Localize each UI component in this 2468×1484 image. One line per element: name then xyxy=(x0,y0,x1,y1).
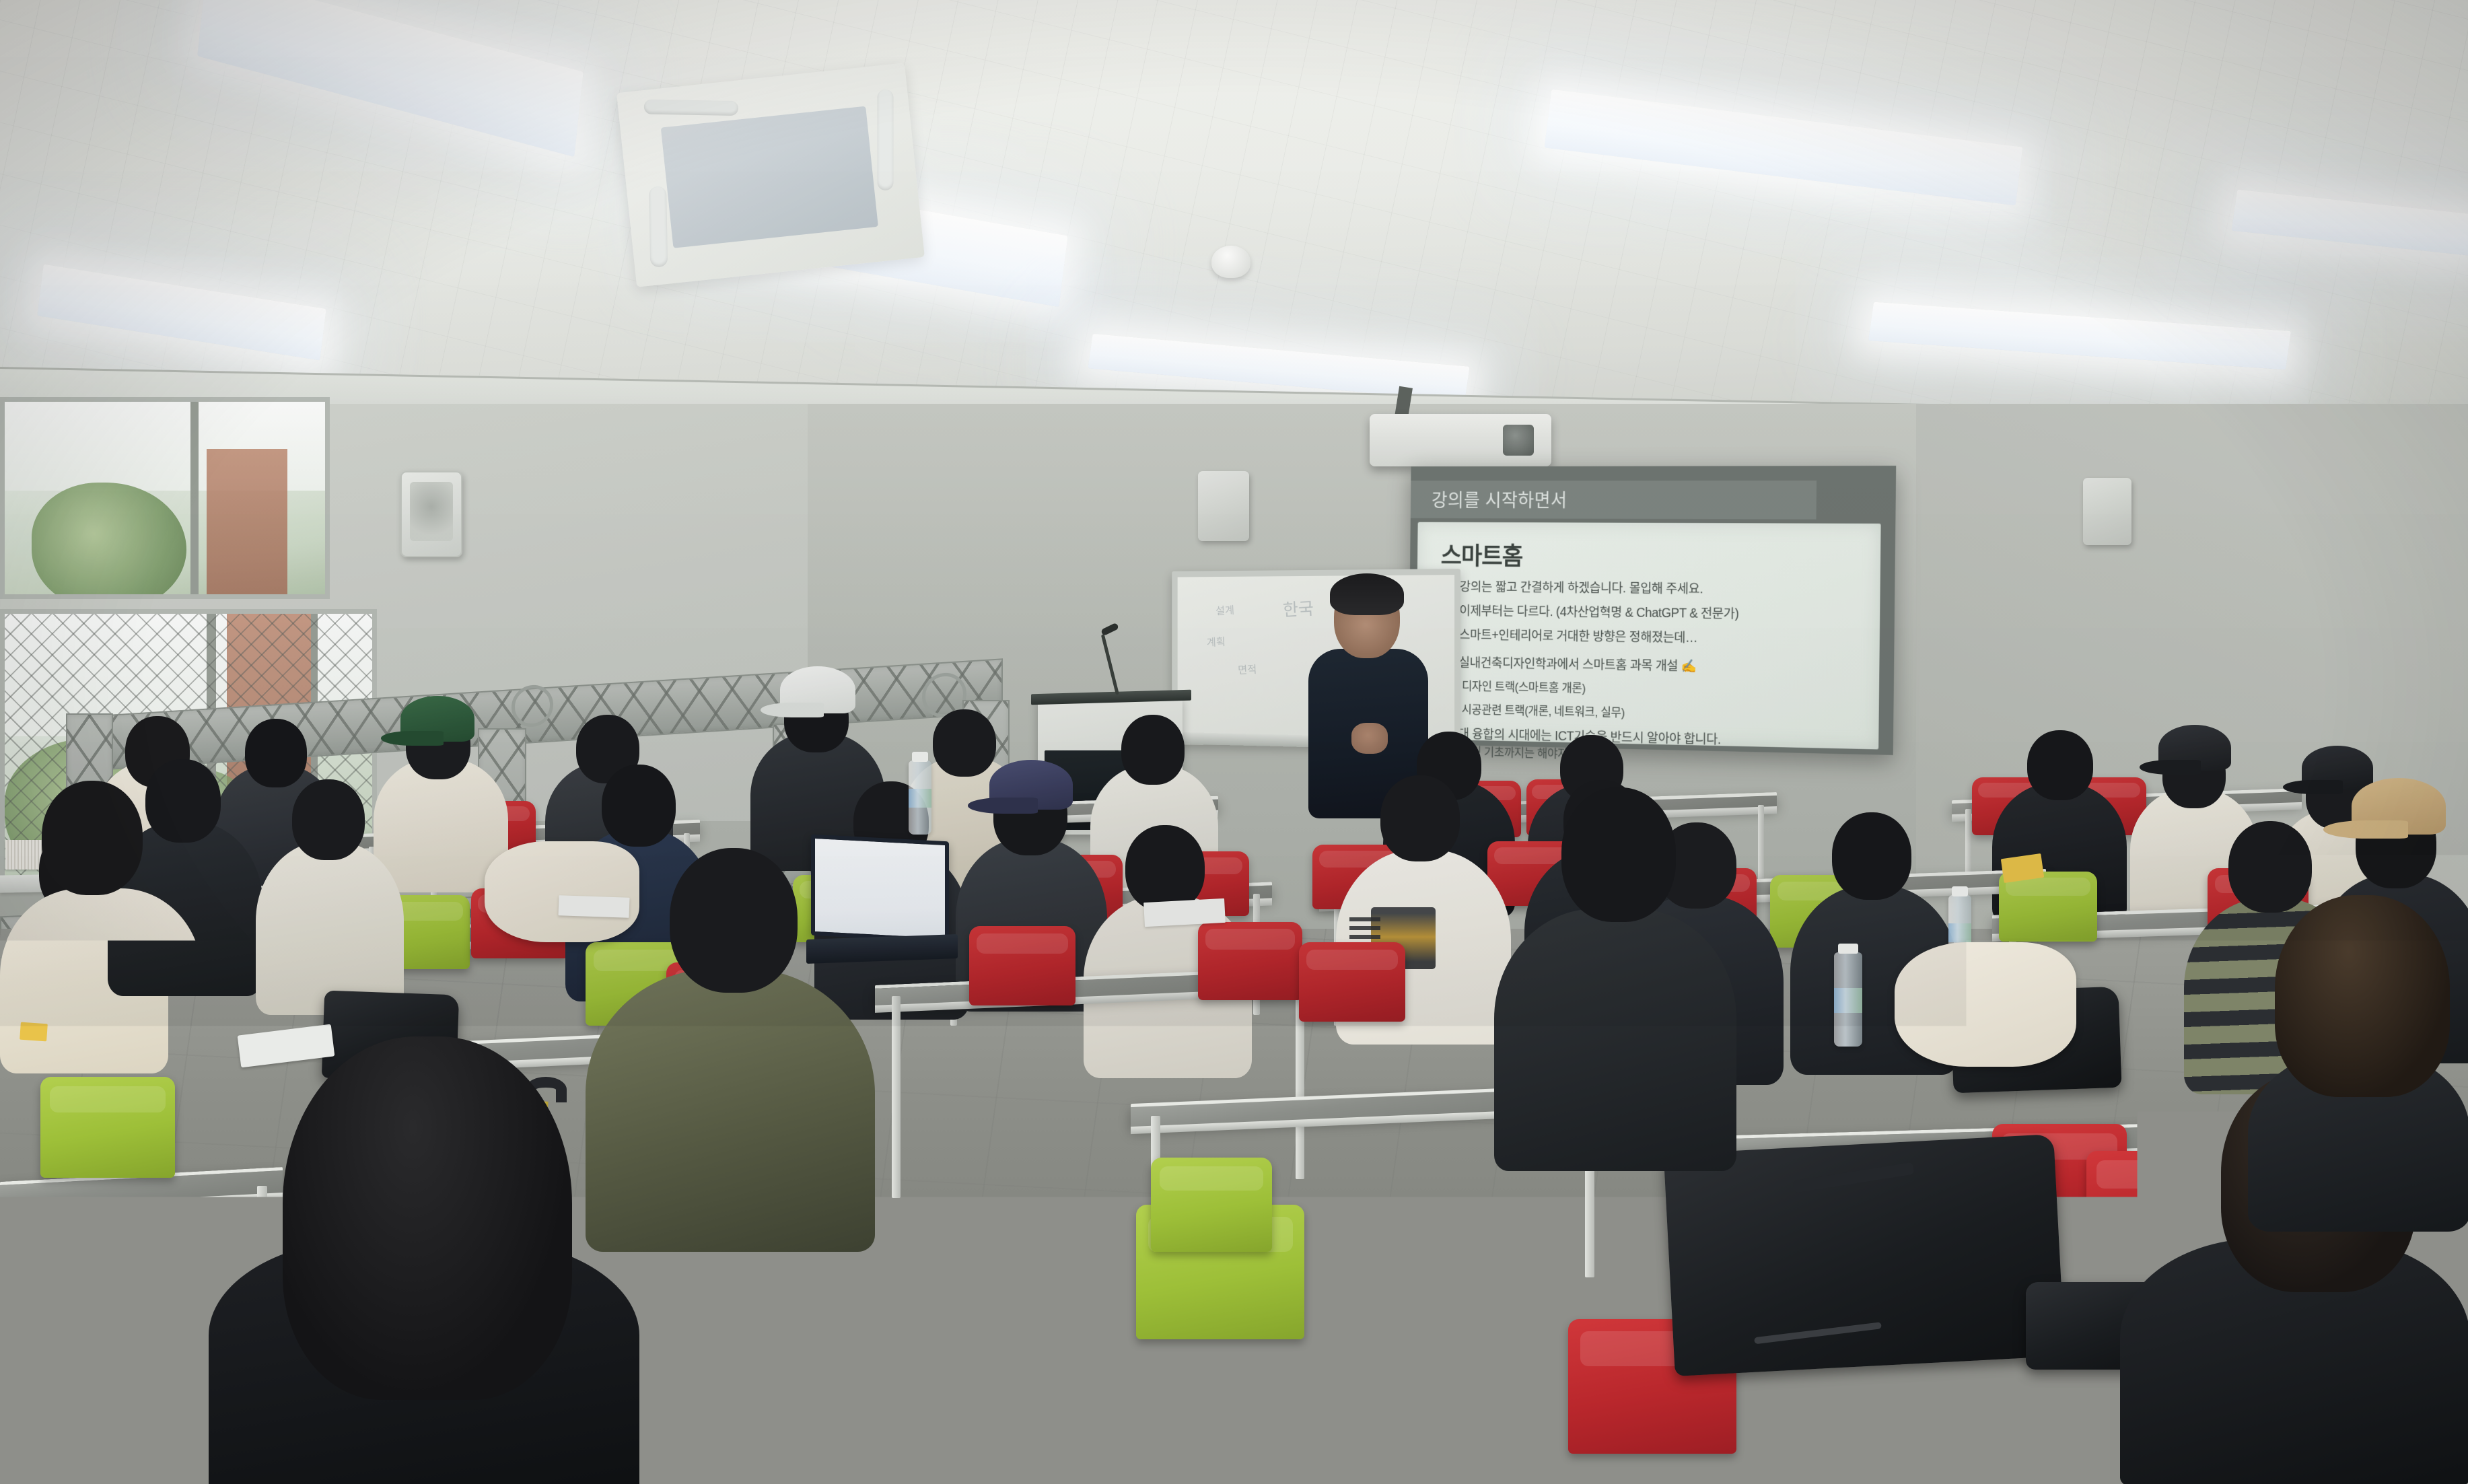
bottle-cap xyxy=(912,752,928,762)
chair-red xyxy=(1299,942,1405,1022)
wall-speaker-icon xyxy=(400,471,462,557)
student-head xyxy=(2275,895,2450,1097)
handout[interactable] xyxy=(1143,898,1226,927)
whiteboard-scribble: 계획 xyxy=(1206,633,1226,649)
dome-sensor-icon xyxy=(1211,246,1250,278)
table-leg xyxy=(892,996,901,1198)
ceiling-projector xyxy=(1370,414,1551,466)
student-front-left-edge xyxy=(0,754,202,1104)
slide-item: 2. 이제부터는 다르다. (4차산업혁명 & ChatGPT & 전문가) xyxy=(1440,604,1867,623)
cap-navy xyxy=(989,760,1073,810)
student-head xyxy=(1832,812,1911,900)
bottle-label xyxy=(1948,923,1971,943)
student-mid-3 xyxy=(256,740,404,1010)
cap-tan xyxy=(2352,778,2446,835)
ac-vane xyxy=(649,186,668,267)
bottle-cap xyxy=(1952,886,1968,896)
slide-item: 4. 실내건축디자인학과에서 스마트홈 과목 개설 ✍ xyxy=(1440,656,1866,677)
water-bottle[interactable] xyxy=(909,761,931,835)
cap-black xyxy=(2158,725,2231,771)
slide-header-text: 강의를 시작하면서 xyxy=(1432,487,1567,513)
jacket-on-chair[interactable] xyxy=(1895,942,2076,1067)
student-torso xyxy=(586,969,875,1252)
slide-item: 3. 스마트+인테리어로 거대한 방향은 정해졌는데… xyxy=(1440,629,1867,648)
student-head xyxy=(1380,775,1460,861)
student-head xyxy=(1125,825,1205,911)
student-front-dark-jacket xyxy=(1494,781,1736,1171)
slide-item-text: 스마트+인테리어로 거대한 방향은 정해졌는데… xyxy=(1459,629,1697,645)
slide-title: 스마트홈 xyxy=(1441,536,1868,575)
student-head xyxy=(42,781,143,895)
backpack-zipper xyxy=(1754,1322,1882,1344)
student-front-olive-fleece xyxy=(586,835,875,1252)
whiteboard-scribble: 면적 xyxy=(1238,660,1257,677)
bottle-cap xyxy=(1838,944,1858,954)
student-head xyxy=(1121,715,1185,785)
slide-item-text: 이제부터는 다르다. (4차산업혁명 & ChatGPT & 전문가) xyxy=(1459,604,1738,621)
student-front-long-hair xyxy=(195,1036,653,1484)
slide-item-text: 강의는 짧고 간결하게 하겠습니다. 몰입해 주세요. xyxy=(1460,581,1703,597)
slide-sub-item: - 디자인 트랙(스마트홈 개론) xyxy=(1456,677,1866,701)
table-leg xyxy=(17,1198,28,1400)
chair-red xyxy=(969,926,1076,1005)
ceiling-ac-cassette xyxy=(616,63,925,287)
ceiling xyxy=(0,0,2468,431)
cap-white xyxy=(780,666,855,713)
student-front-right-hair xyxy=(2248,895,2468,1232)
student-head xyxy=(2027,730,2093,800)
student-head xyxy=(670,848,798,993)
student-torso xyxy=(256,841,404,1015)
student-head xyxy=(292,779,365,860)
chair-green xyxy=(1151,1158,1272,1252)
mint-tumbler[interactable] xyxy=(1380,1339,1447,1484)
cap-brim xyxy=(968,798,1038,814)
bottle-label xyxy=(909,789,931,808)
cap-green xyxy=(400,696,474,742)
slide-header: 강의를 시작하면서 xyxy=(1411,481,1817,520)
slide-bullet-list: 1. 강의는 짧고 간결하게 하겠습니다. 몰입해 주세요. 2. 이제부터는 … xyxy=(1440,580,1867,676)
student-torso xyxy=(1494,909,1736,1171)
bottle-label xyxy=(1834,988,1862,1012)
whiteboard-scribble: 설계 xyxy=(1215,601,1234,618)
ac-grille xyxy=(661,106,878,248)
window-upper xyxy=(0,397,330,599)
lecture-hall-photo: 강의를 시작하면서 강의를 시작하면서 스마트홈 1. 강의는 짧고 간결하게 … xyxy=(0,0,2468,1484)
cap-brim xyxy=(2323,820,2408,839)
slide-item: 1. 강의는 짧고 간결하게 하겠습니다. 몰입해 주세요. xyxy=(1440,580,1867,598)
window-brick-building xyxy=(207,449,287,599)
wall-speaker-icon xyxy=(2083,478,2131,545)
student-torso xyxy=(0,888,202,1104)
backpack-strap xyxy=(1793,1162,1915,1193)
slide-sub-item: - 시공관련 트랙(개론, 네트워크, 실무) xyxy=(1455,701,1866,726)
projector-lens-icon xyxy=(1503,425,1534,456)
window-tree xyxy=(32,483,186,599)
chair-green xyxy=(1999,872,2097,942)
presenter-hair xyxy=(1330,573,1404,615)
ac-vane xyxy=(877,90,893,190)
tumbler-lid xyxy=(1378,1335,1449,1379)
cap-brim xyxy=(2140,760,2201,775)
chair-red xyxy=(1198,922,1302,1000)
window-mullion xyxy=(190,402,199,594)
cap-brim xyxy=(761,703,824,717)
slide-item-text: 실내건축디자인학과에서 스마트홈 과목 개설 ✍ xyxy=(1458,656,1696,674)
student-head xyxy=(1561,787,1676,922)
student-head xyxy=(283,1036,572,1400)
water-bottle[interactable] xyxy=(1834,952,1862,1047)
wall-speaker-icon xyxy=(1198,471,1249,541)
ac-vane xyxy=(644,100,738,116)
